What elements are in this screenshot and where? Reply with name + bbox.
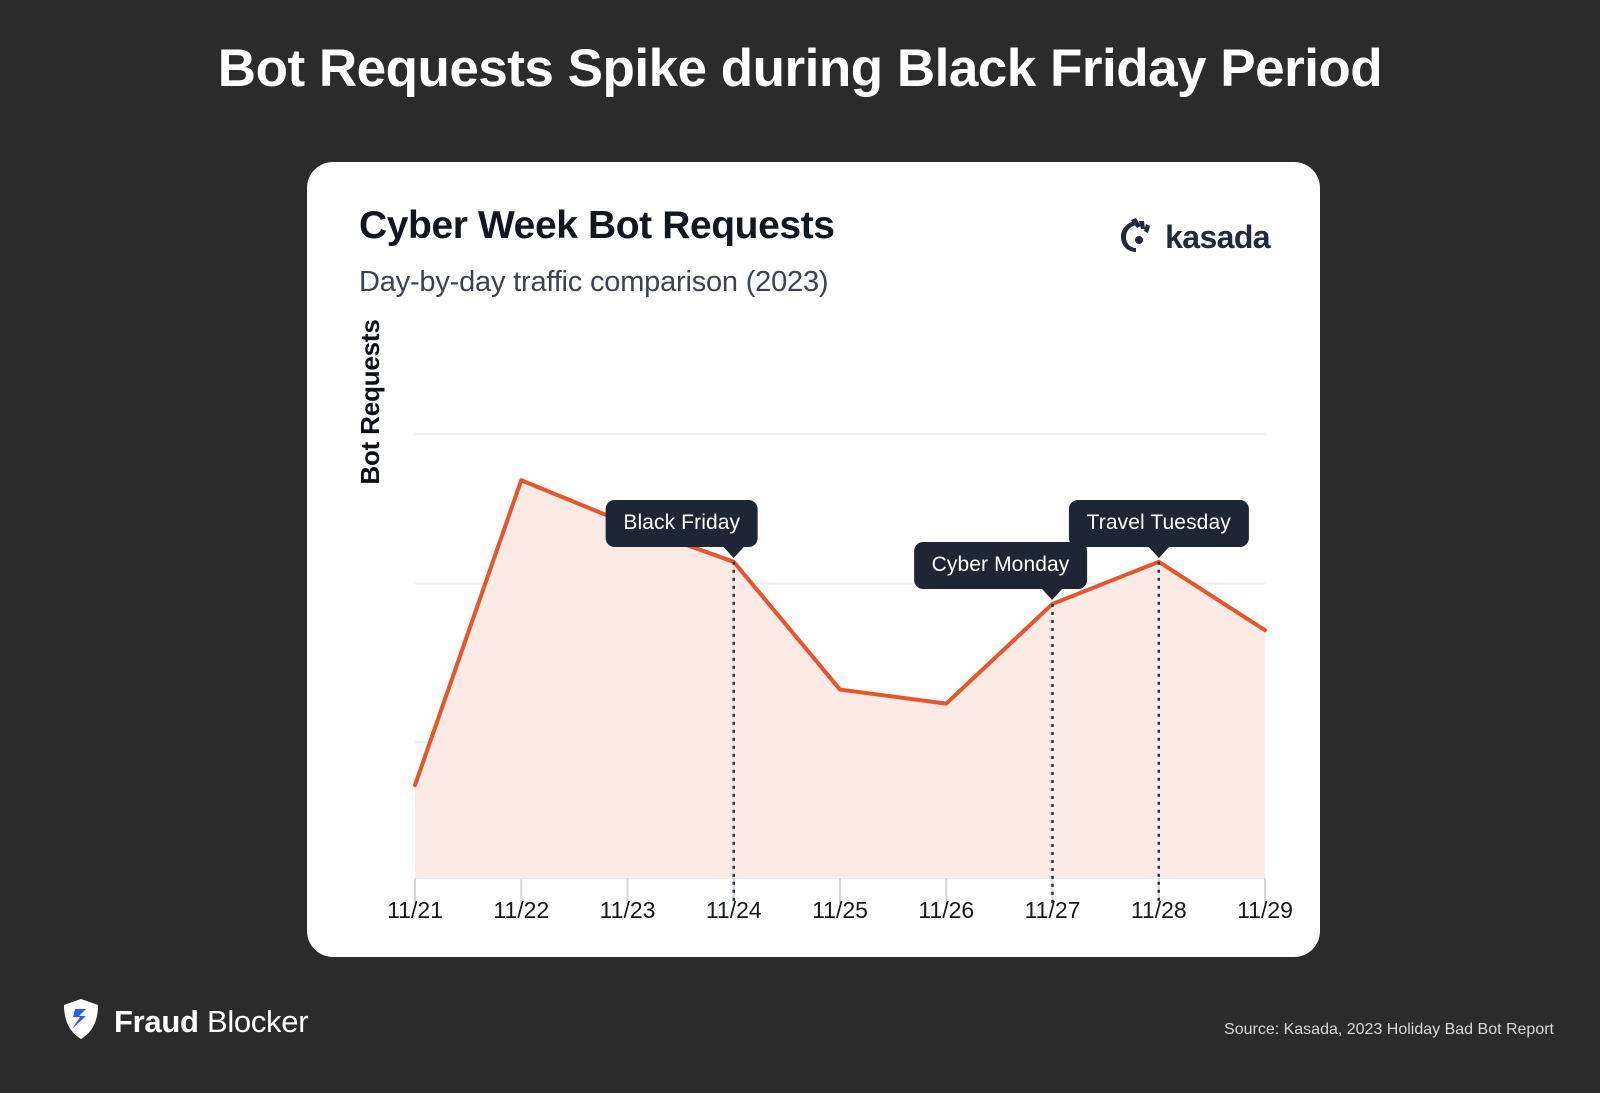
- x-axis-tick-label: 11/24: [674, 897, 794, 924]
- page-title: Bot Requests Spike during Black Friday P…: [0, 40, 1600, 98]
- kasada-wordmark: kasada: [1165, 219, 1270, 256]
- y-axis-label: Bot Requests: [355, 292, 386, 512]
- x-axis-tick-label: 11/25: [780, 897, 900, 924]
- chart-card: Cyber Week Bot Requests Day-by-day traff…: [307, 162, 1320, 957]
- annotation-pointer-icon: [1148, 546, 1170, 558]
- fraud-blocker-wordmark: Fraud Blocker: [114, 1004, 308, 1040]
- x-axis-tick-label: 11/22: [461, 897, 581, 924]
- chart-subtitle: Day-by-day traffic comparison (2023): [359, 266, 828, 299]
- x-axis-tick-label: 11/28: [1099, 897, 1219, 924]
- annotation-label: Black Friday: [605, 500, 758, 547]
- infographic-root: Bot Requests Spike during Black Friday P…: [0, 0, 1600, 1093]
- annotation-pointer-icon: [723, 546, 745, 558]
- x-axis-tick-label: 11/29: [1205, 897, 1325, 924]
- x-axis-tick-label: 11/26: [886, 897, 1006, 924]
- shield-f-icon: [62, 998, 100, 1045]
- annotation-pointer-icon: [1041, 588, 1063, 600]
- x-axis-tick-label: 11/21: [355, 897, 475, 924]
- data-line-bot-requests: [415, 480, 1265, 785]
- annotation-label: Travel Tuesday: [1069, 500, 1249, 547]
- source-caption: Source: Kasada, 2023 Holiday Bad Bot Rep…: [1224, 1021, 1554, 1039]
- kasada-swipe-icon: [1115, 217, 1155, 258]
- annotation-black-friday[interactable]: Black Friday: [605, 500, 758, 547]
- annotation-label: Cyber Monday: [914, 542, 1088, 589]
- fraud-blocker-light: Blocker: [207, 1004, 308, 1039]
- x-axis-tick-label: 11/23: [568, 897, 688, 924]
- annotation-cyber-monday[interactable]: Cyber Monday: [914, 542, 1088, 589]
- kasada-logo: kasada: [1115, 217, 1270, 258]
- chart-title: Cyber Week Bot Requests: [359, 204, 835, 248]
- fraud-blocker-logo: Fraud Blocker: [62, 998, 308, 1045]
- fraud-blocker-bold: Fraud: [114, 1004, 199, 1039]
- x-axis-tick-label: 11/27: [993, 897, 1113, 924]
- annotation-travel-tuesday[interactable]: Travel Tuesday: [1069, 500, 1249, 547]
- area-fill: [415, 480, 1265, 878]
